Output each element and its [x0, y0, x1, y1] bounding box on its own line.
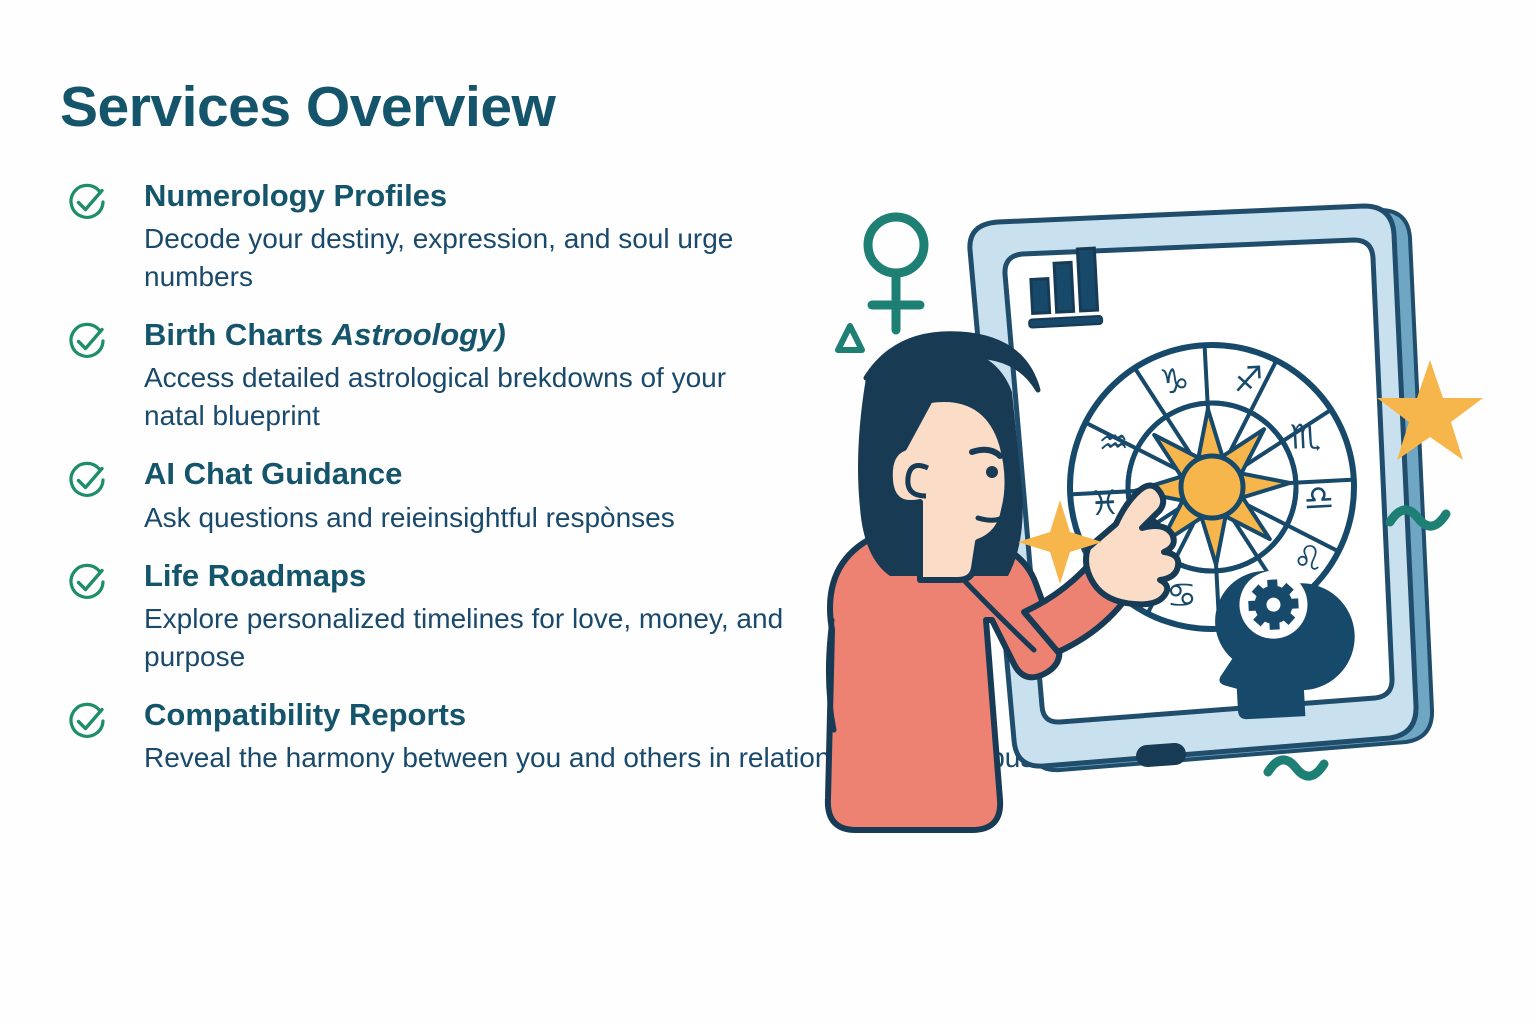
slide-canvas: Services Overview Numerology Profiles De… — [0, 0, 1536, 1024]
service-title: Compatibility Reports — [144, 697, 850, 734]
check-circle-icon — [66, 701, 108, 743]
zodiac-scorpio: ♏ — [1289, 416, 1322, 458]
services-list: Numerology Profiles Decode your destiny,… — [60, 178, 850, 777]
zodiac-sagittarius: ♐ — [1232, 359, 1265, 401]
service-item-compatibility-reports[interactable]: Compatibility Reports Reveal the harmony… — [60, 697, 850, 777]
service-description: Access detailed astrological brekdowns o… — [144, 359, 784, 433]
service-title-text: Life Roadmaps — [144, 558, 366, 593]
service-title-italic: Astroology) — [332, 317, 506, 352]
squiggle-wave-bottom-icon — [1268, 760, 1324, 776]
service-title: AI Chat Guidance — [144, 456, 850, 493]
illustration-woman-with-tablet: ♑ ♐ ♏ ♎ ♌ ♍ ♋ ♈ ♓ ♒ — [760, 150, 1536, 1010]
services-panel: Services Overview Numerology Profiles De… — [60, 78, 850, 799]
triangle-outline-icon — [838, 326, 862, 350]
service-title: Birth Charts Astroology) — [144, 317, 850, 354]
service-description: Explore personalized timelines for love,… — [144, 600, 784, 674]
tablet-home-button — [1135, 742, 1186, 767]
service-title-text: Compatibility Reports — [144, 697, 466, 732]
service-title: Life Roadmaps — [144, 558, 850, 595]
check-circle-icon — [66, 460, 108, 502]
venus-symbol-icon — [868, 217, 924, 330]
service-title-text: Numerology Profiles — [144, 178, 447, 213]
check-circle-icon — [66, 562, 108, 604]
service-title-text: AI Chat Guidance — [144, 456, 402, 491]
service-item-ai-chat-guidance[interactable]: AI Chat Guidance Ask questions and reiei… — [60, 456, 850, 536]
service-item-birth-charts[interactable]: Birth Charts Astroology) Access detailed… — [60, 317, 850, 434]
service-description: Reveal the harmony between you and other… — [144, 739, 850, 776]
zodiac-cancer: ♋ — [1165, 575, 1198, 617]
service-title: Numerology Profiles — [144, 178, 850, 215]
check-circle-icon — [66, 321, 108, 363]
page-title: Services Overview — [60, 78, 850, 138]
service-description: Ask questions and reieinsightful respòns… — [144, 499, 850, 536]
zodiac-aquarius: ♒ — [1097, 422, 1130, 464]
check-circle-icon — [66, 182, 108, 224]
zodiac-libra: ♎ — [1302, 478, 1335, 520]
zodiac-capricorn: ♑ — [1158, 361, 1191, 403]
service-item-life-roadmaps[interactable]: Life Roadmaps Explore personalized timel… — [60, 558, 850, 675]
service-item-numerology-profiles[interactable]: Numerology Profiles Decode your destiny,… — [60, 178, 850, 295]
zodiac-leo: ♌ — [1292, 538, 1325, 580]
service-title-text: Birth Charts — [144, 317, 332, 352]
service-description: Decode your destiny, expression, and sou… — [144, 220, 784, 294]
